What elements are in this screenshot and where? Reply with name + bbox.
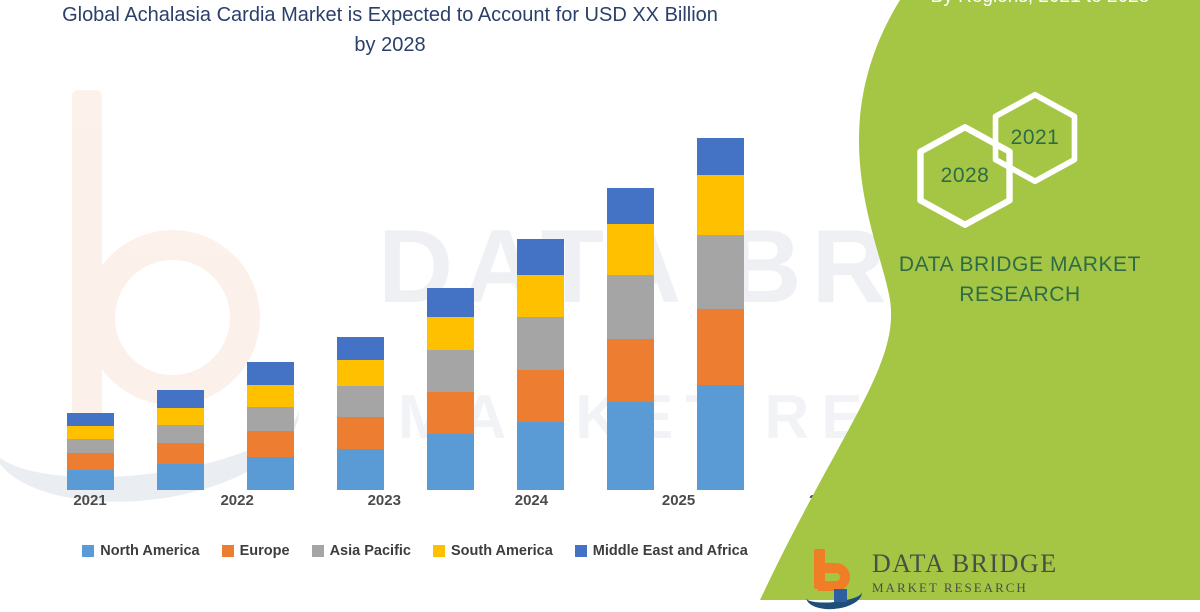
- bar-segment: [157, 443, 204, 464]
- bar-column: [135, 90, 225, 490]
- legend-swatch-icon: [433, 545, 445, 557]
- legend-label: North America: [100, 543, 199, 559]
- bar-segment: [337, 417, 384, 449]
- bar-segment: [607, 339, 654, 402]
- logo-mark-icon: [810, 549, 858, 601]
- data-bridge-logo: DATA BRIDGE MARKET RESEARCH: [810, 545, 1200, 605]
- stacked-bar: [337, 337, 384, 490]
- chart-legend: North AmericaEuropeAsia PacificSouth Ame…: [45, 538, 785, 564]
- plot-area: [45, 90, 765, 490]
- stacked-bar: [697, 138, 744, 490]
- bar-segment: [607, 188, 654, 224]
- green-panel-content: By Regions, 2021 to 2028 2021 2028 DATA …: [760, 0, 1200, 600]
- panel-brand-text: DATA BRIDGE MARKET RESEARCH: [840, 250, 1200, 310]
- legend-item[interactable]: Asia Pacific: [312, 543, 411, 559]
- bar-segment: [427, 434, 474, 490]
- legend-label: Asia Pacific: [330, 543, 411, 559]
- stacked-bar: [427, 288, 474, 490]
- bar-segment: [697, 138, 744, 175]
- x-axis-tick: 2023: [339, 492, 429, 518]
- stacked-bar: [67, 413, 114, 490]
- bar-column: [585, 90, 675, 490]
- legend-swatch-icon: [222, 545, 234, 557]
- bar-segment: [157, 425, 204, 443]
- bar-segment: [517, 317, 564, 370]
- bar-segment: [337, 449, 384, 490]
- panel-brand-line-1: DATA BRIDGE MARKET: [840, 250, 1200, 280]
- bar-segment: [607, 402, 654, 490]
- legend-item[interactable]: North America: [82, 543, 199, 559]
- bar-segment: [247, 431, 294, 457]
- legend-swatch-icon: [82, 545, 94, 557]
- bar-segment: [427, 317, 474, 350]
- bar-segment: [67, 453, 114, 470]
- bar-segment: [67, 470, 114, 490]
- bar-segment: [67, 439, 114, 453]
- legend-item[interactable]: Europe: [222, 543, 290, 559]
- bar-column: [675, 90, 765, 490]
- legend-swatch-icon: [312, 545, 324, 557]
- bar-segment: [697, 175, 744, 235]
- logo-line-2: MARKET RESEARCH: [872, 580, 1058, 596]
- bar-segment: [607, 224, 654, 275]
- bar-segment: [697, 235, 744, 309]
- stacked-bar-chart: [0, 90, 800, 490]
- bar-segment: [697, 309, 744, 385]
- bar-segment: [157, 390, 204, 408]
- legend-item[interactable]: South America: [433, 543, 553, 559]
- bar-segment: [337, 360, 384, 386]
- bar-segment: [427, 392, 474, 434]
- panel-subtitle: By Regions, 2021 to 2028: [880, 0, 1200, 10]
- bar-segment: [427, 288, 474, 317]
- stacked-bar: [247, 362, 294, 490]
- hexagon-group: 2021 2028: [760, 95, 1200, 225]
- bar-column: [405, 90, 495, 490]
- hexagon-2028: 2028: [912, 123, 1018, 229]
- bar-segment: [517, 370, 564, 422]
- stacked-bar: [607, 188, 654, 490]
- bar-column: [315, 90, 405, 490]
- bar-segment: [517, 422, 564, 490]
- legend-label: Middle East and Africa: [593, 543, 748, 559]
- legend-item[interactable]: Middle East and Africa: [575, 543, 748, 559]
- logo-square: [834, 589, 847, 602]
- bar-column: [495, 90, 585, 490]
- bar-segment: [247, 362, 294, 385]
- x-axis-tick: 2022: [192, 492, 282, 518]
- bar-segment: [517, 239, 564, 275]
- bar-segment: [157, 464, 204, 490]
- bar-segment: [607, 275, 654, 339]
- chart-title: Global Achalasia Cardia Market is Expect…: [60, 0, 720, 60]
- panel-brand-line-2: RESEARCH: [840, 280, 1200, 310]
- stacked-bar: [157, 390, 204, 490]
- bar-segment: [67, 413, 114, 426]
- legend-label: Europe: [240, 543, 290, 559]
- bar-segment: [157, 408, 204, 425]
- x-axis-tick: 2021: [45, 492, 135, 518]
- logo-wordmark: DATA BRIDGE MARKET RESEARCH: [872, 549, 1058, 596]
- bar-segment: [247, 407, 294, 431]
- hexagon-2028-label: 2028: [912, 123, 1018, 229]
- bar-column: [45, 90, 135, 490]
- bar-segment: [337, 337, 384, 360]
- bar-segment: [337, 386, 384, 417]
- bar-segment: [247, 457, 294, 490]
- stacked-bar: [517, 239, 564, 490]
- bar-segment: [427, 350, 474, 392]
- x-axis-tick: 2024: [486, 492, 576, 518]
- bar-segment: [517, 275, 564, 317]
- legend-swatch-icon: [575, 545, 587, 557]
- bar-column: [225, 90, 315, 490]
- x-axis-tick: 2025: [634, 492, 724, 518]
- bar-segment: [67, 426, 114, 439]
- bar-segment: [247, 385, 294, 407]
- bar-segment: [697, 385, 744, 490]
- legend-label: South America: [451, 543, 553, 559]
- logo-line-1: DATA BRIDGE: [872, 549, 1058, 579]
